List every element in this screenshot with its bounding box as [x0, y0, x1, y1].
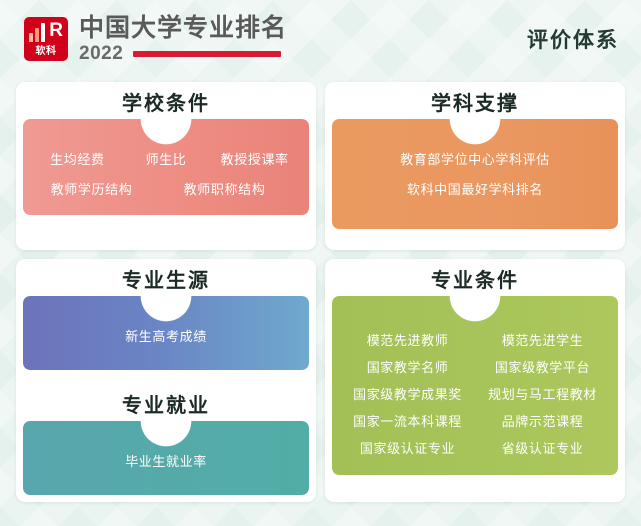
indicator-item: 毕业生就业率	[33, 451, 299, 473]
block-title: 专业条件	[332, 266, 618, 296]
indicator-item: 模范先进学生	[475, 330, 610, 351]
logo-bars-icon	[29, 23, 45, 42]
block-major-conditions: 专业条件 30 模范先进教师 模范先进学生 国家教学名师 国家级教学平台 国家级…	[332, 266, 618, 475]
indicator-item: 国家级教学成果奖	[340, 384, 475, 405]
edition-year: 2022	[79, 44, 123, 64]
indicator-item: 生均经费	[33, 149, 122, 171]
ruanke-logo-icon: R 软科	[24, 17, 68, 61]
indicator-item: 国家一流本科课程	[340, 411, 475, 432]
card-discipline-support: 学科支撑 20 教育部学位中心学科评估 软科中国最好学科排名	[325, 82, 625, 250]
block-title: 学校条件	[23, 89, 309, 119]
indicator-item: 软科中国最好学科排名	[342, 179, 608, 201]
panel-major-conditions: 30 模范先进教师 模范先进学生 国家教学名师 国家级教学平台 国家级教学成果奖…	[332, 296, 618, 475]
panel-major-students: 20 新生高考成绩	[23, 296, 309, 370]
card-students-and-employment: 专业生源 20 新生高考成绩 专业就业 5 毕业生就业率	[16, 259, 316, 503]
panel-discipline-support: 20 教育部学位中心学科评估 软科中国最好学科排名	[332, 119, 618, 229]
red-rule-divider	[133, 51, 281, 57]
indicator-item: 品牌示范课程	[475, 411, 610, 432]
indicator-item: 教师学历结构	[33, 179, 150, 201]
block-discipline-support: 学科支撑 20 教育部学位中心学科评估 软科中国最好学科排名	[332, 89, 618, 229]
logo-chinese-label: 软科	[24, 46, 68, 58]
logo-letter-r: R	[49, 21, 63, 41]
indicator-item: 教育部学位中心学科评估	[342, 149, 608, 171]
indicator-item: 省级认证专业	[475, 438, 610, 459]
indicator-list: 教育部学位中心学科评估 软科中国最好学科排名	[342, 149, 608, 201]
card-major-conditions: 专业条件 30 模范先进教师 模范先进学生 国家教学名师 国家级教学平台 国家级…	[325, 259, 625, 503]
page-header: R 软科 中国大学专业排名 2022 评价体系	[0, 0, 641, 78]
indicator-item: 模范先进教师	[340, 330, 475, 351]
indicator-item: 国家级教学平台	[475, 357, 610, 378]
block-title: 专业生源	[23, 266, 309, 296]
card-school-conditions: 学校条件 10 生均经费 师生比 教授授课率 教师学历结构 教师职称结构	[16, 82, 316, 250]
block-school-conditions: 学校条件 10 生均经费 师生比 教授授课率 教师学历结构 教师职称结构	[23, 89, 309, 215]
block-major-students: 专业生源 20 新生高考成绩	[23, 266, 309, 370]
indicator-list: 生均经费 师生比 教授授课率 教师学历结构 教师职称结构	[33, 149, 299, 201]
block-title: 学科支撑	[332, 89, 618, 119]
page-title: 中国大学专业排名	[79, 15, 287, 42]
indicator-item: 新生高考成绩	[33, 326, 299, 348]
criteria-grid: 学校条件 10 生均经费 师生比 教授授课率 教师学历结构 教师职称结构 学科支…	[16, 82, 625, 502]
indicator-item: 教师职称结构	[150, 179, 299, 201]
brand-lockup: R 软科 中国大学专业排名 2022	[24, 15, 287, 64]
panel-school-conditions: 10 生均经费 师生比 教授授课率 教师学历结构 教师职称结构	[23, 119, 309, 215]
indicator-list: 毕业生就业率	[33, 451, 299, 473]
header-section-title: 评价体系	[527, 24, 619, 54]
brand-subline: 2022	[79, 44, 287, 64]
indicator-item: 国家级认证专业	[340, 438, 475, 459]
page-background: R 软科 中国大学专业排名 2022 评价体系 学校条件 10 生均经	[0, 0, 641, 526]
indicator-item: 国家教学名师	[340, 357, 475, 378]
indicator-item: 规划与马工程教材	[475, 384, 610, 405]
block-major-employment: 专业就业 5 毕业生就业率	[23, 391, 309, 495]
panel-major-employment: 5 毕业生就业率	[23, 421, 309, 495]
indicator-item: 师生比	[122, 149, 211, 171]
block-title: 专业就业	[23, 391, 309, 421]
indicator-item: 教授授课率	[210, 149, 299, 171]
brand-text-block: 中国大学专业排名 2022	[79, 15, 287, 64]
indicator-list: 新生高考成绩	[33, 326, 299, 348]
indicator-list: 模范先进教师 模范先进学生 国家教学名师 国家级教学平台 国家级教学成果奖 规划…	[340, 330, 610, 459]
